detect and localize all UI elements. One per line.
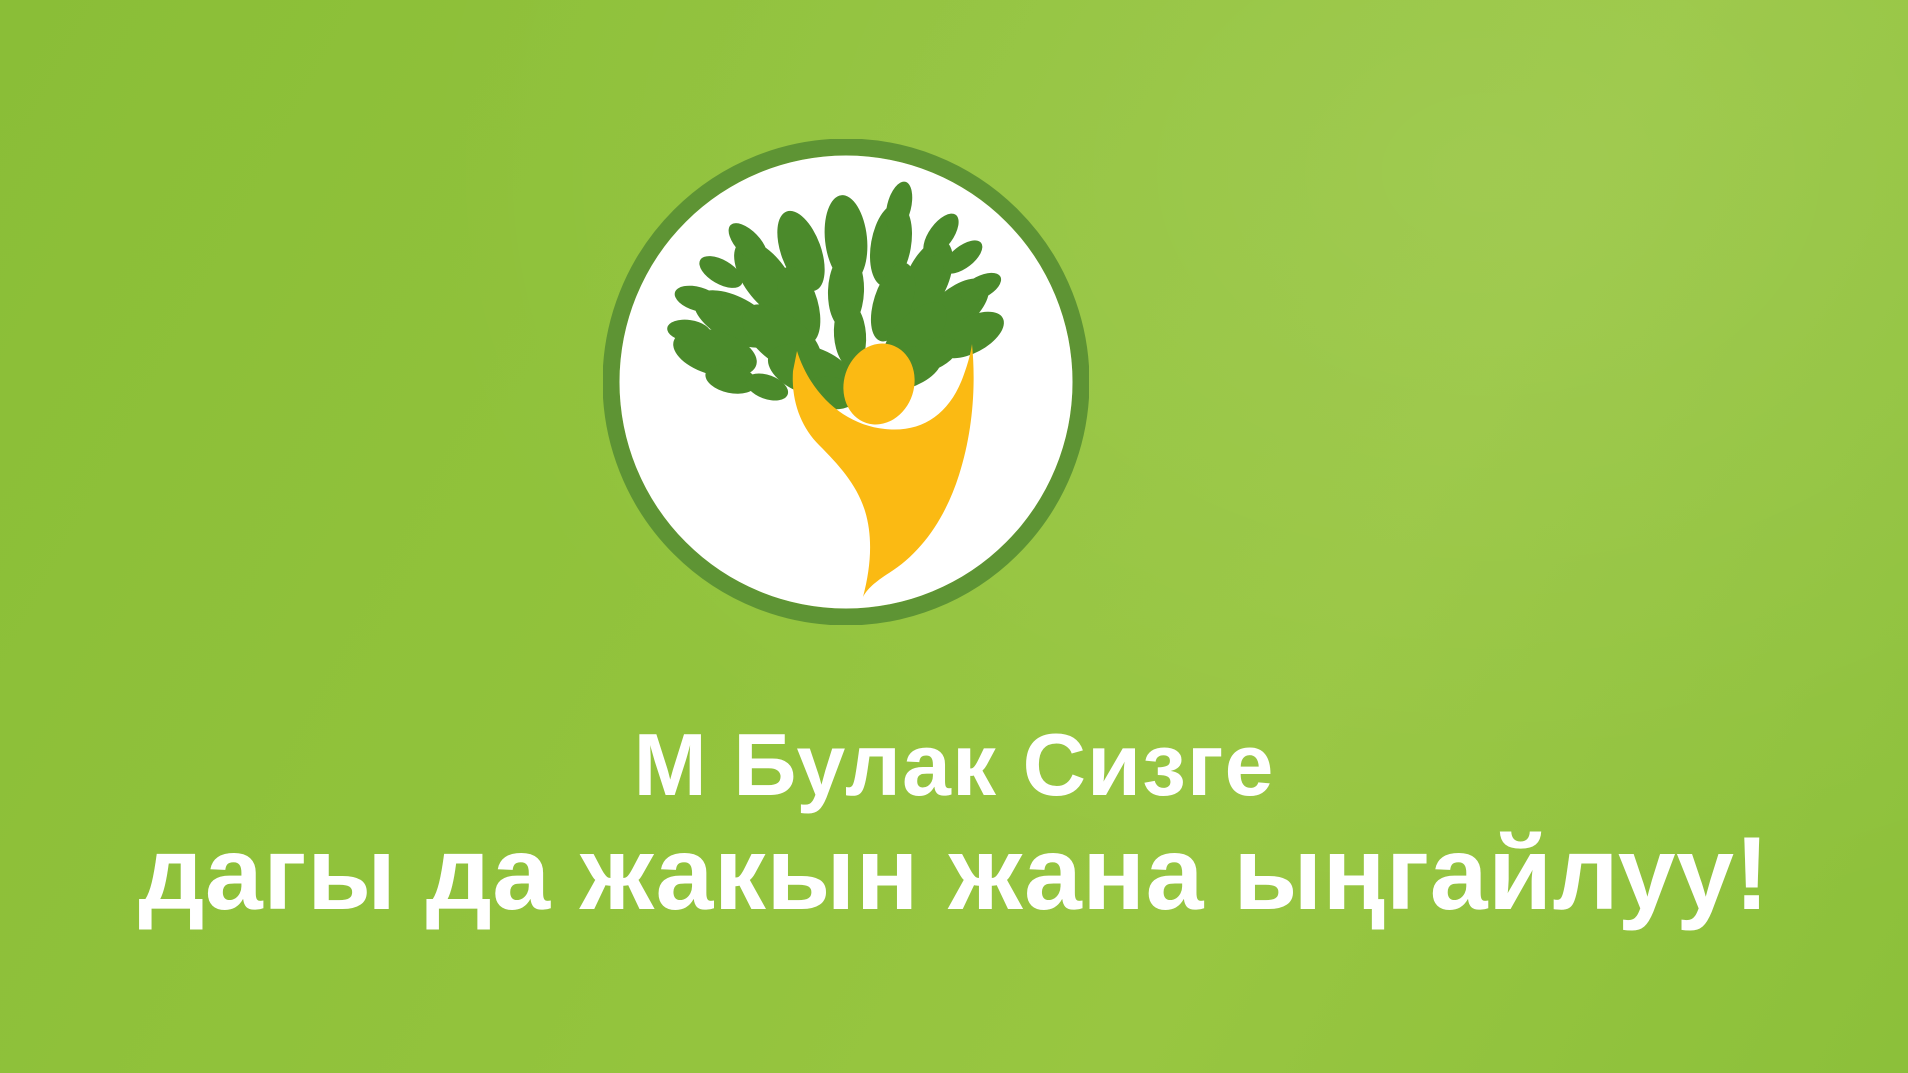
- headline-block: М Булак Сизге дагы да жакын жана ыңгайлу…: [0, 718, 1908, 930]
- logo-svg: [603, 139, 1089, 625]
- headline-line-2: дагы да жакын жана ыңгайлуу!: [0, 819, 1908, 929]
- promo-banner: М Булак Сизге дагы да жакын жана ыңгайлу…: [0, 0, 1908, 1073]
- headline-line-1: М Булак Сизге: [0, 718, 1908, 811]
- m-bulak-logo: [603, 139, 1089, 625]
